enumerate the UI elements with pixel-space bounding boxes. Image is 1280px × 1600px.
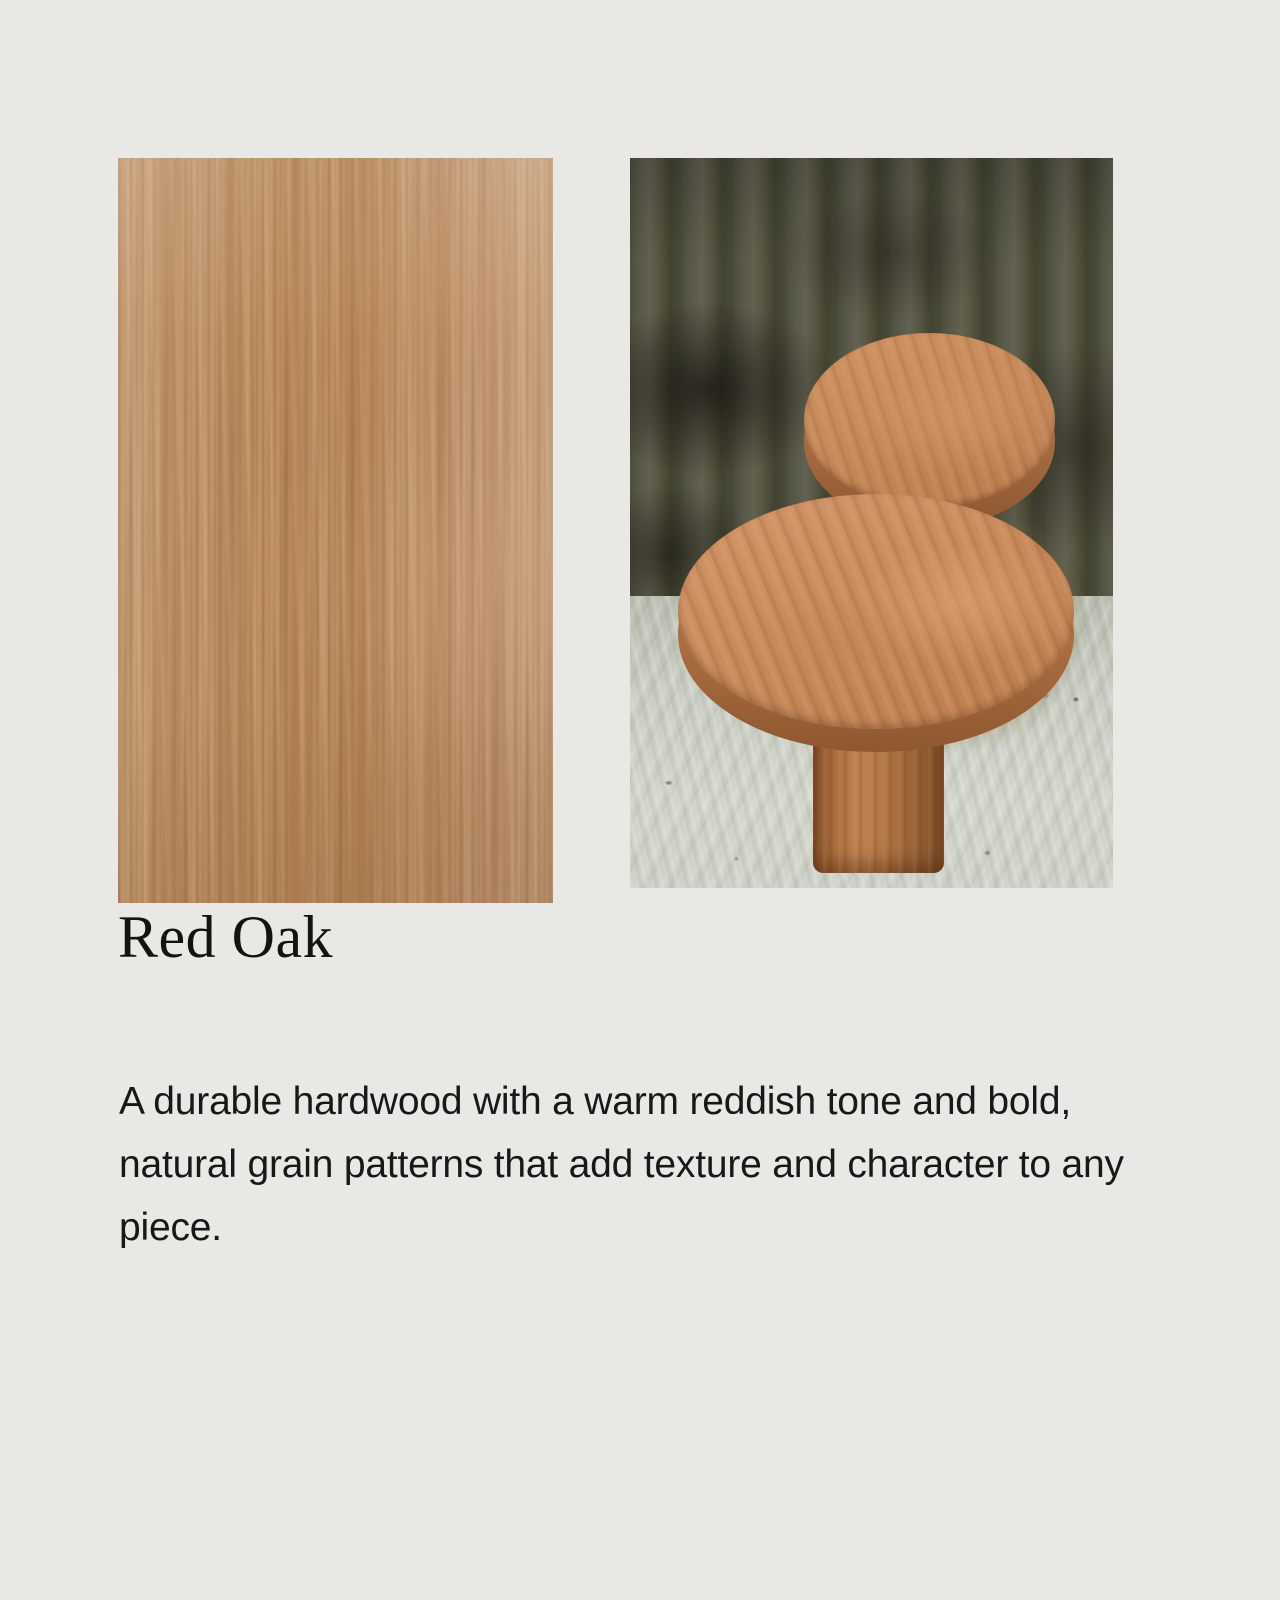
material-title: Red Oak bbox=[118, 904, 333, 970]
material-detail-page: Red Oak A durable hardwood with a warm r… bbox=[0, 0, 1280, 1600]
front-side-table bbox=[678, 494, 1074, 874]
swatch-shading-layer bbox=[118, 158, 553, 903]
media-row bbox=[118, 158, 1113, 888]
material-description: A durable hardwood with a warm reddish t… bbox=[119, 1070, 1179, 1259]
front-table-top bbox=[678, 494, 1074, 729]
red-oak-side-tables-photo bbox=[630, 158, 1113, 888]
red-oak-grain-swatch bbox=[118, 158, 553, 903]
back-table-top bbox=[804, 333, 1055, 506]
